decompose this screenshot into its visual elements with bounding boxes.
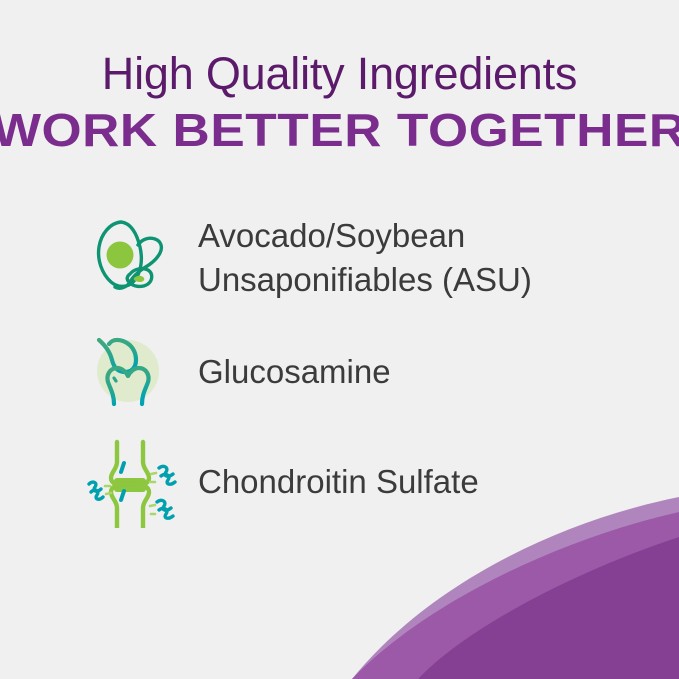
- icon-cell: [78, 432, 182, 532]
- icon-cell: [78, 208, 182, 308]
- promotional-graphic: High Quality Ingredients WORK BETTER TOG…: [0, 0, 679, 679]
- list-item: Avocado/Soybean Unsaponifiables (ASU): [78, 206, 638, 310]
- list-item: Glucosamine: [78, 322, 638, 422]
- ingredient-label-line1: Chondroitin Sulfate: [198, 460, 638, 504]
- headline-primary: High Quality Ingredients: [0, 48, 679, 100]
- swoosh-dark-band: [418, 537, 679, 679]
- joint-bones-icon: [84, 326, 176, 418]
- ingredient-list: Avocado/Soybean Unsaponifiables (ASU): [78, 206, 638, 542]
- ingredient-label-line1: Glucosamine: [198, 350, 638, 394]
- ingredient-label-line1: Avocado/Soybean: [198, 214, 638, 258]
- heading-block: High Quality Ingredients WORK BETTER TOG…: [0, 48, 679, 156]
- list-item: Chondroitin Sulfate: [78, 434, 638, 530]
- avocado-soybean-icon: [84, 212, 176, 304]
- ingredient-label: Avocado/Soybean Unsaponifiables (ASU): [182, 214, 638, 302]
- ingredient-label: Glucosamine: [182, 350, 638, 394]
- headline-secondary: WORK BETTER TOGETHER: [0, 104, 679, 156]
- knee-joint-molecules-icon: [81, 436, 179, 528]
- ingredient-label-line2: Unsaponifiables (ASU): [198, 258, 638, 302]
- ingredient-label: Chondroitin Sulfate: [182, 460, 638, 504]
- icon-cell: [78, 322, 182, 422]
